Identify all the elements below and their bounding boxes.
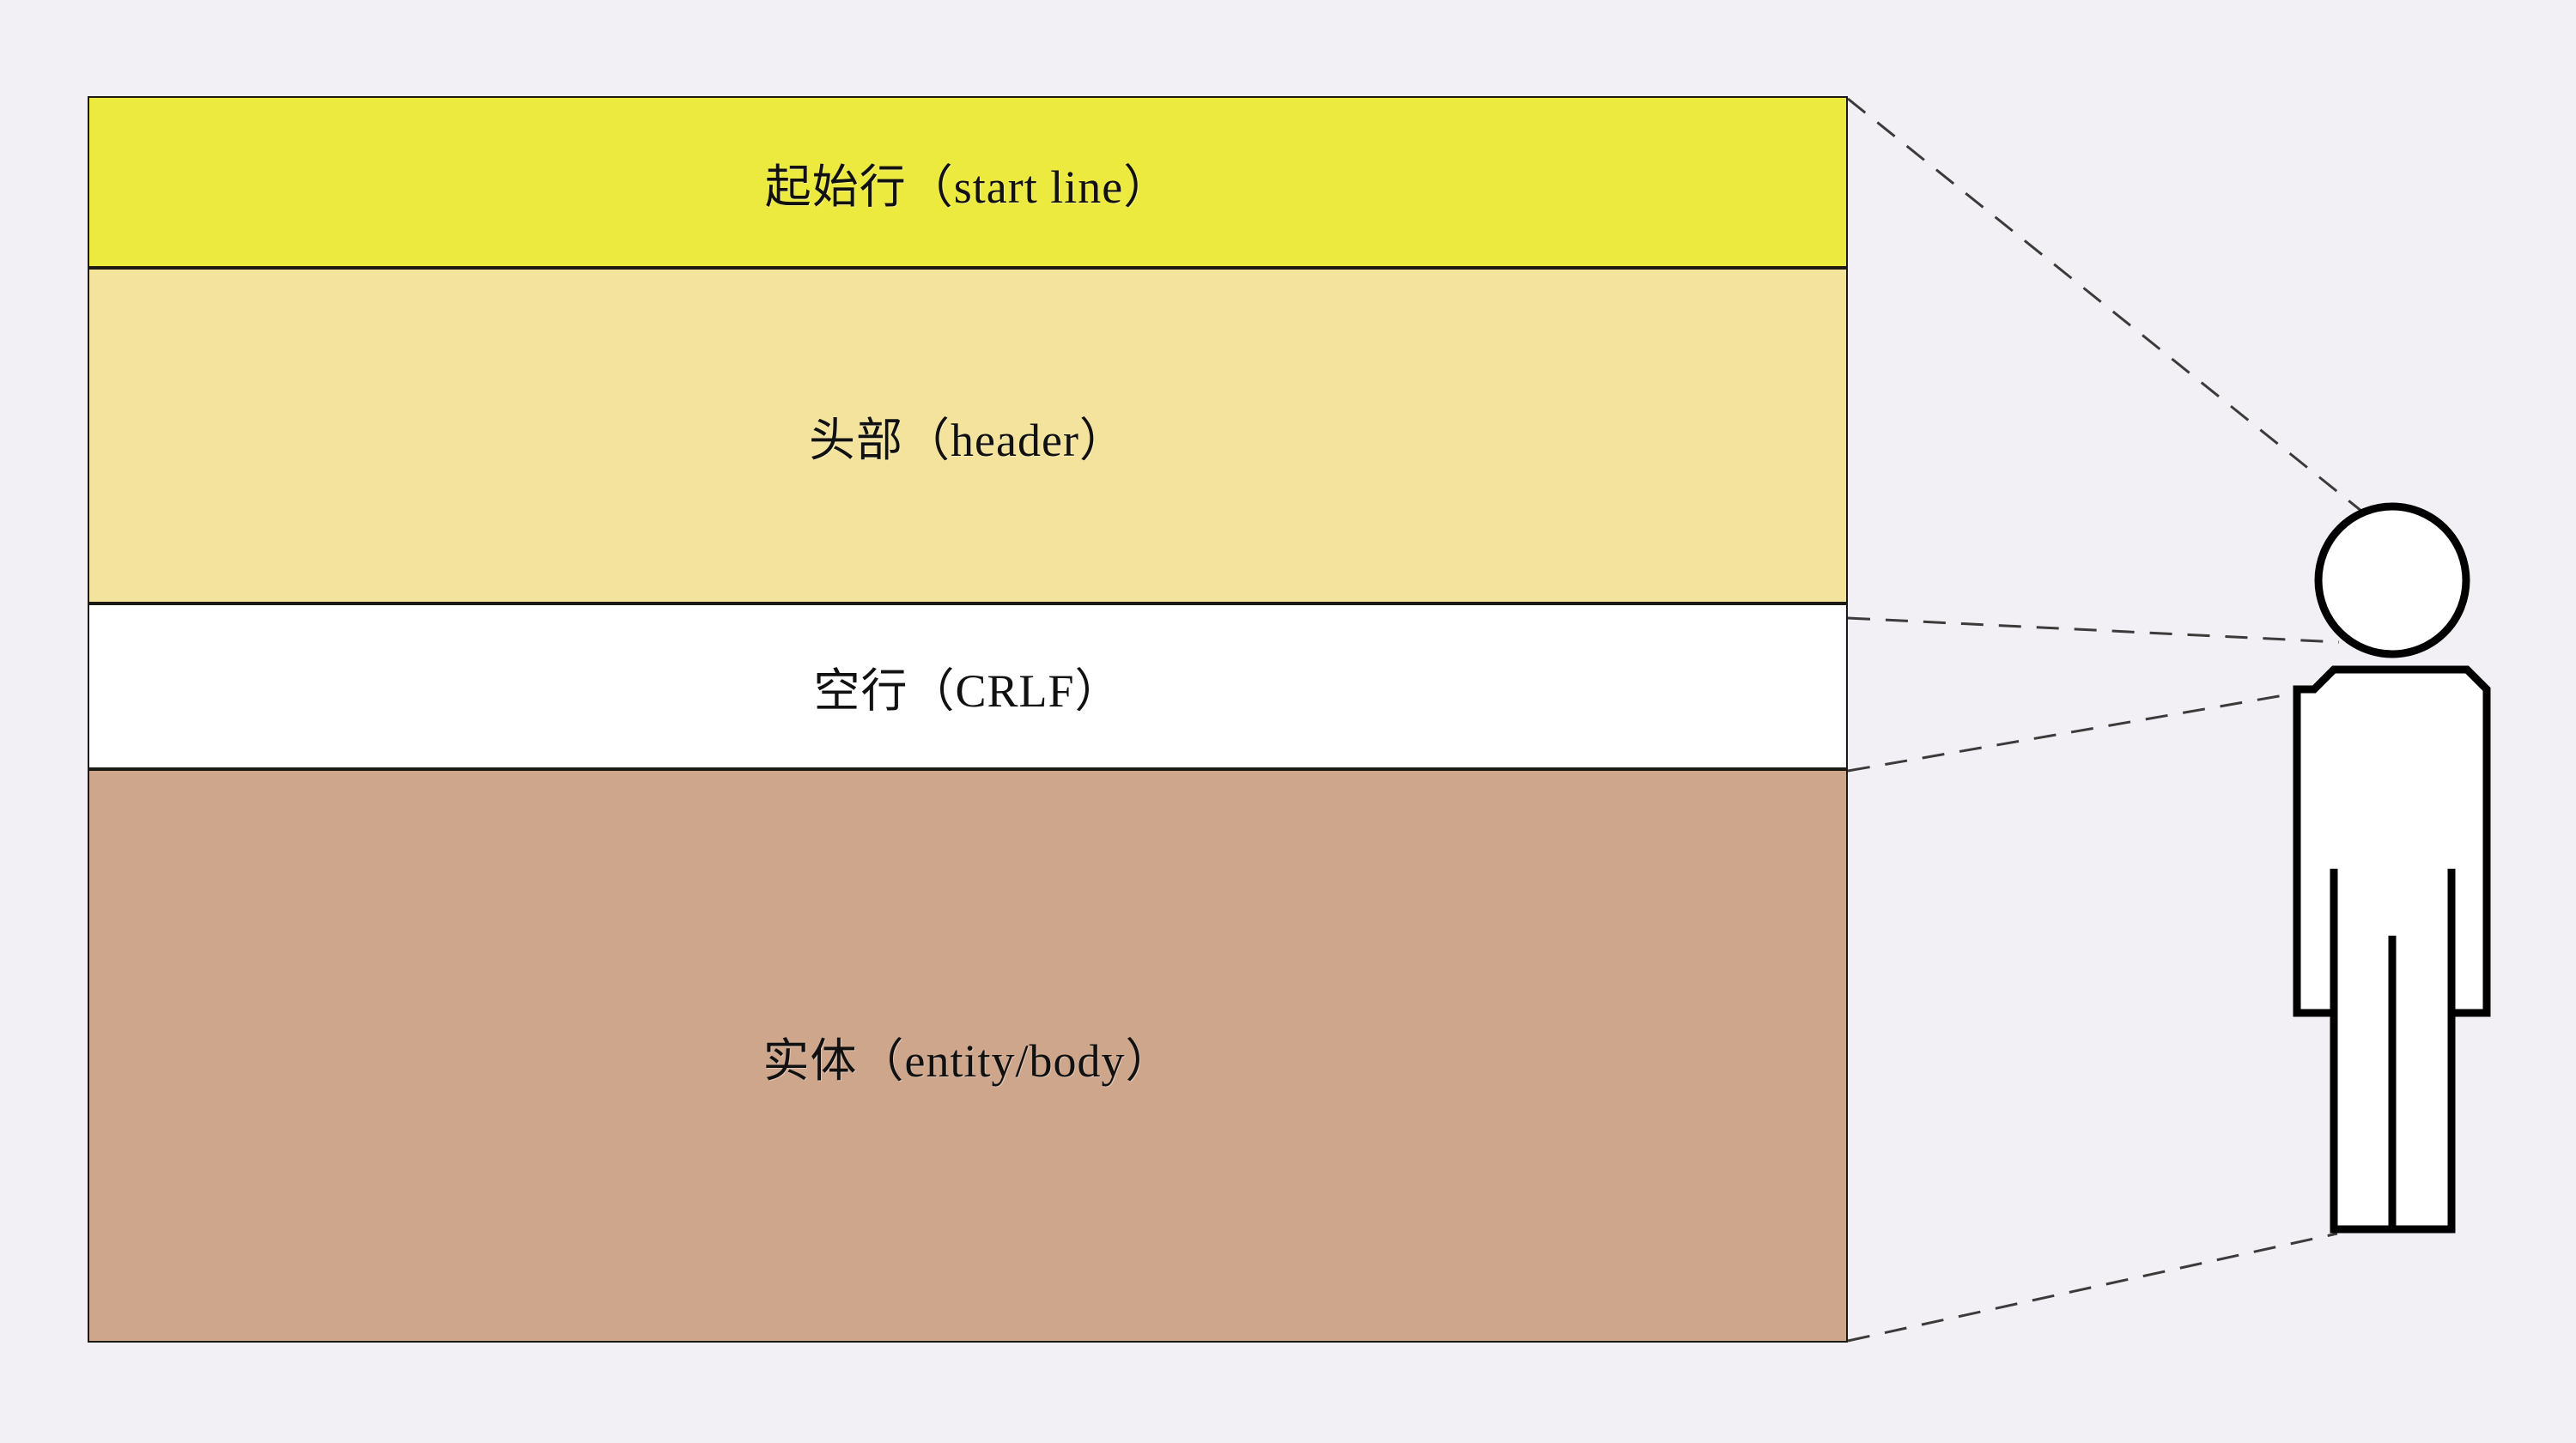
band-crlf-label: 空行（CRLF） (813, 652, 1121, 720)
person-head-icon (2318, 506, 2466, 654)
band-header-label: 头部（header） (809, 402, 1127, 470)
band-header[interactable]: 头部（header） (88, 268, 1848, 603)
band-start-line[interactable]: 起始行（start line） (88, 96, 1848, 268)
band-entity[interactable]: 实体（entity/body） (88, 769, 1848, 1343)
diagram-canvas: 起始行（start line） 头部（header） 空行（CRLF） 实体（e… (0, 0, 2576, 1443)
http-message-block: 起始行（start line） 头部（header） 空行（CRLF） 实体（e… (88, 96, 1848, 1343)
band-start-line-label: 起始行（start line） (765, 149, 1170, 216)
band-crlf[interactable]: 空行（CRLF） (88, 603, 1848, 769)
band-entity-label: 实体（entity/body） (763, 1022, 1173, 1090)
connector-crlf-to-shoulder (1848, 689, 2318, 771)
connector-entity-to-feet (1848, 1234, 2337, 1341)
person-figure[interactable] (2275, 489, 2533, 1262)
connector-header-to-head (1848, 618, 2339, 642)
connector-start-line-to-head (1848, 99, 2375, 522)
